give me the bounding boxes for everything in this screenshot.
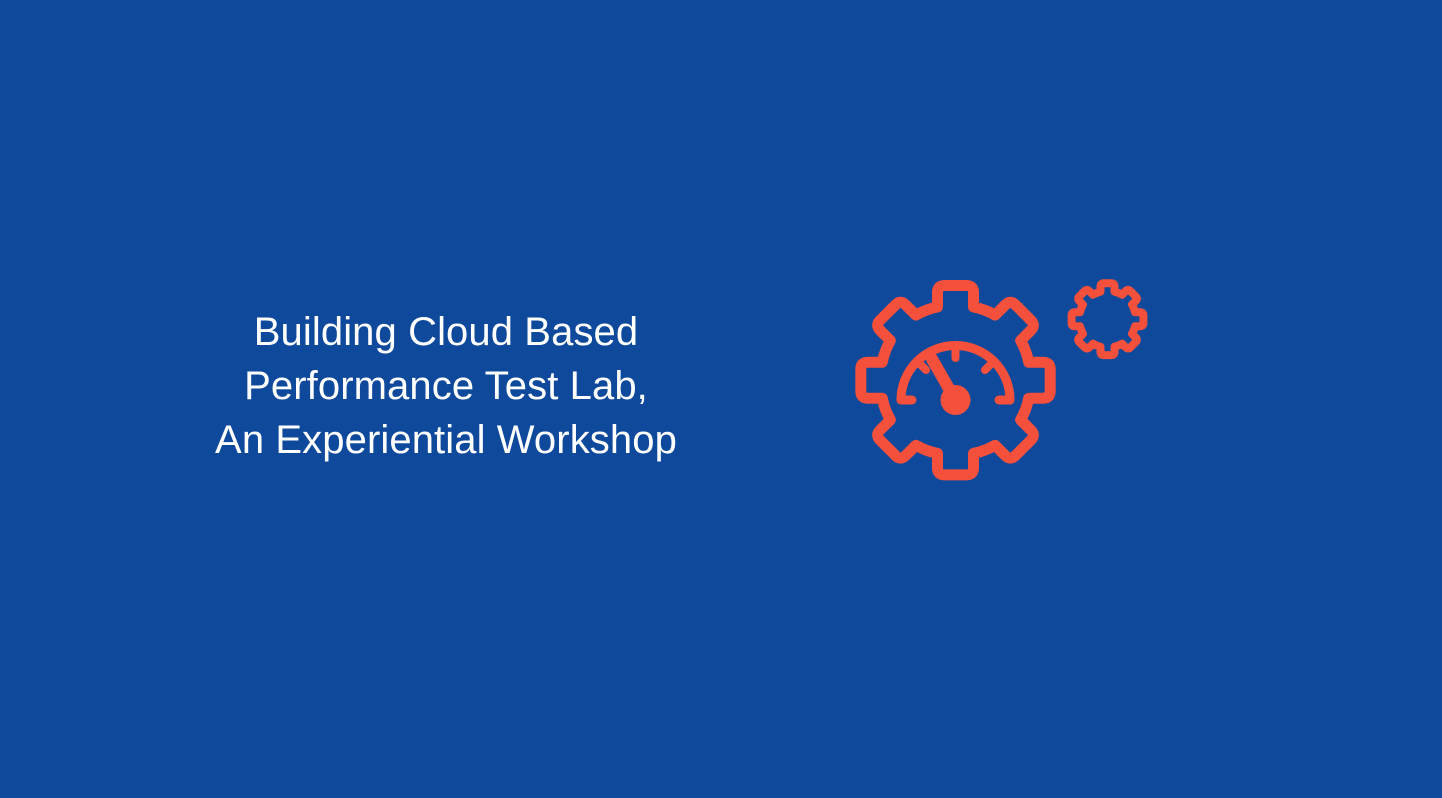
title-line-2: Performance Test Lab,: [66, 359, 826, 413]
gear-gauge-icon: [861, 286, 1050, 475]
small-gear-icon: [1072, 283, 1144, 355]
gauge-tick-right: [985, 361, 994, 370]
icon-group: [836, 275, 1156, 525]
slide-canvas: Building Cloud Based Performance Test La…: [0, 0, 1442, 798]
gauge-tick-left: [917, 361, 926, 370]
page-title: Building Cloud Based Performance Test La…: [66, 305, 826, 467]
gear-gauge-illustration: [836, 275, 1156, 525]
title-line-1: Building Cloud Based: [66, 305, 826, 359]
title-line-3: An Experiential Workshop: [66, 413, 826, 467]
gauge-hub: [941, 385, 971, 415]
small-gear-outline: [1072, 283, 1144, 355]
gear-outline: [861, 286, 1050, 475]
